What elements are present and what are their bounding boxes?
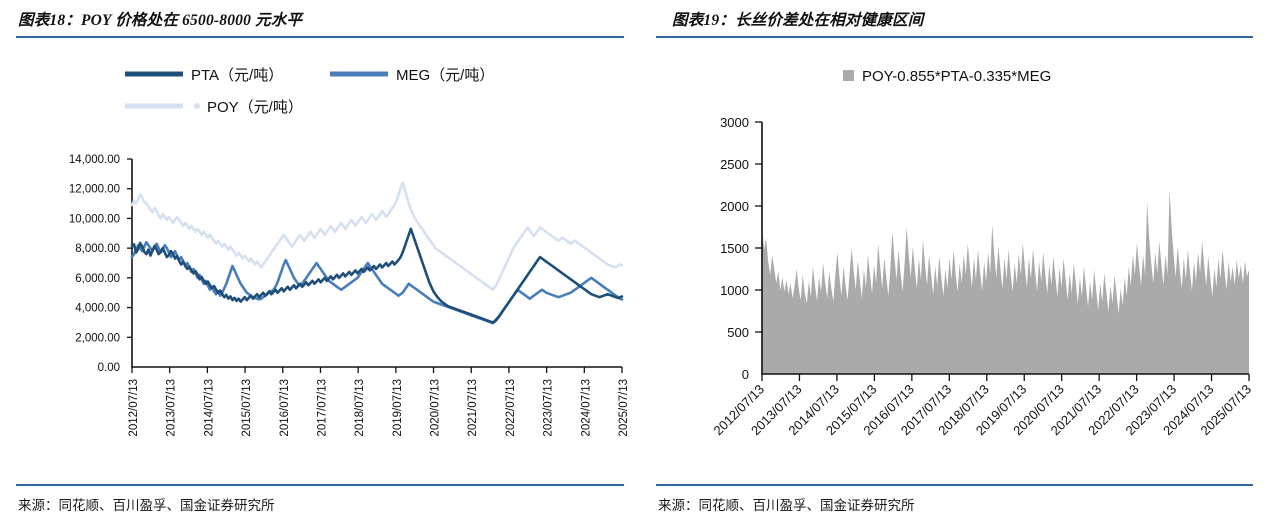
figure-19-top-rule [656, 36, 1253, 38]
y-tick-label: 2000 [720, 199, 749, 214]
y-tick-label: 2,000.00 [75, 332, 120, 344]
y-tick-label: 10,000.00 [69, 213, 120, 225]
y-tick-label: 14,000.00 [69, 154, 120, 166]
figure-18-source: 来源：同花顺、百川盈孚、国金证券研究所 [18, 494, 275, 514]
y-tick-label: 500 [727, 325, 749, 340]
x-tick-label: 2013/07/13 [166, 379, 178, 437]
x-tick-label: 2024/07/13 [580, 379, 592, 437]
x-tick-label: 2018/07/13 [354, 379, 366, 437]
spread-chart-legend: POY-0.855*PTA-0.335*MEG [843, 68, 1051, 85]
spread-chart-area: POY-0.855*PTA-0.335*MEG 0500100015002000… [640, 44, 1269, 480]
price-chart-svg: PTA（元/吨）MEG（元/吨）POY（元/吨） 0.002,000.004,0… [0, 44, 640, 480]
x-tick-label: 2014/07/13 [203, 379, 215, 437]
spread-chart-plot: 0500100015002000250030002012/07/132013/0… [710, 115, 1254, 438]
y-tick-label: 4,000.00 [75, 303, 120, 315]
y-tick-label: 12,000.00 [69, 184, 120, 196]
x-tick-label: 2017/07/13 [316, 379, 328, 437]
legend-label-spread: POY-0.855*PTA-0.335*MEG [862, 68, 1051, 85]
figure-19-panel: 图表19：长丝价差处在相对健康区间 POY-0.855*PTA-0.335*ME… [640, 0, 1269, 524]
x-tick-label: 2025/07/13 [618, 379, 630, 437]
legend-marker-poy [194, 103, 200, 109]
x-tick-label: 2016/07/13 [279, 379, 291, 437]
x-tick-label: 2015/07/13 [241, 379, 253, 437]
x-tick-label: 2019/07/13 [392, 379, 404, 437]
spread-chart-svg: POY-0.855*PTA-0.335*MEG 0500100015002000… [640, 44, 1269, 480]
figure-19-bottom-rule [656, 484, 1253, 486]
y-tick-label: 1500 [720, 241, 749, 256]
y-tick-label: 2500 [720, 157, 749, 172]
series-poy [132, 183, 622, 290]
price-chart-area: PTA（元/吨）MEG（元/吨）POY（元/吨） 0.002,000.004,0… [0, 44, 640, 480]
x-tick-label: 2021/07/13 [467, 379, 479, 437]
x-tick-label: 2023/07/13 [543, 379, 555, 437]
figure-18-title: 图表18：POY 价格处在 6500-8000 元水平 [18, 8, 302, 30]
figure-18-panel: 图表18：POY 价格处在 6500-8000 元水平 PTA（元/吨）MEG（… [0, 0, 640, 524]
x-tick-label: 2012/07/13 [128, 379, 140, 437]
legend-label-meg: MEG（元/吨） [396, 67, 494, 84]
legend-label-poy: POY（元/吨） [207, 99, 303, 116]
figure-19-source: 来源：同花顺、百川盈孚、国金证券研究所 [658, 494, 915, 514]
x-tick-label: 2020/07/13 [430, 379, 442, 437]
x-tick-label: 2022/07/13 [505, 379, 517, 437]
price-chart-legend: PTA（元/吨）MEG（元/吨）POY（元/吨） [125, 67, 494, 116]
legend-label-pta: PTA（元/吨） [191, 67, 283, 84]
figure-19-title: 图表19：长丝价差处在相对健康区间 [672, 8, 923, 30]
y-tick-label: 8,000.00 [75, 243, 120, 255]
y-tick-label: 0 [742, 367, 749, 382]
figure-18-bottom-rule [16, 484, 624, 486]
report-figures-page: 图表18：POY 价格处在 6500-8000 元水平 PTA（元/吨）MEG（… [0, 0, 1269, 524]
legend-swatch-spread [843, 70, 854, 81]
figure-18-top-rule [16, 36, 624, 38]
y-tick-label: 1000 [720, 283, 749, 298]
y-tick-label: 0.00 [98, 362, 120, 374]
spread-area [762, 189, 1249, 374]
price-chart-plot: 0.002,000.004,000.006,000.008,000.0010,0… [69, 154, 630, 437]
y-tick-label: 6,000.00 [75, 273, 120, 285]
y-tick-label: 3000 [720, 115, 749, 130]
